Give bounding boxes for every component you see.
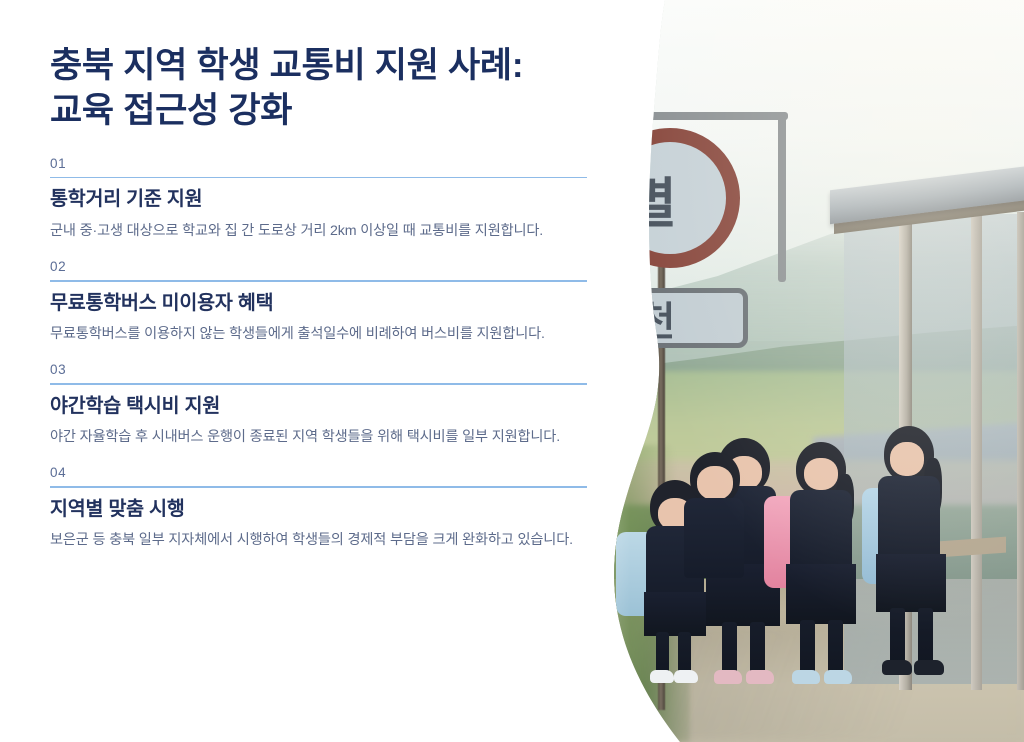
item-heading: 지역별 맞춤 시행 <box>50 497 588 521</box>
shoe-left <box>714 670 742 684</box>
face <box>890 442 924 476</box>
item-body: 보은군 등 충북 일부 지자체에서 시행하여 학생들의 경제적 부담을 크게 완… <box>50 529 593 551</box>
leg-left <box>656 632 669 674</box>
item-divider <box>50 280 587 282</box>
item-number: 02 <box>50 259 588 275</box>
page-title: 충북 지역 학생 교통비 지원 사례: 교육 접근성 강화 <box>50 44 588 134</box>
item-divider <box>50 383 587 385</box>
item-heading: 야간학습 택시비 지원 <box>50 394 588 418</box>
shoe-left <box>882 660 912 675</box>
photo-panel: 별 천 <box>560 0 1024 742</box>
item-number: 04 <box>50 465 588 481</box>
slide-root: 별 천 <box>0 0 1024 742</box>
face <box>804 458 838 490</box>
circular-road-sign: 별 <box>600 128 740 268</box>
leg-left <box>800 620 815 674</box>
student-3 <box>670 452 758 592</box>
shoe-left <box>650 670 674 683</box>
item-body: 무료통학버스를 이용하지 않는 학생들에게 출석일수에 비례하여 버스비를 지원… <box>50 323 593 345</box>
list-item: 04 지역별 맞춤 시행 보은군 등 충북 일부 지자체에서 시행하여 학생들의… <box>50 465 588 551</box>
item-heading: 무료통학버스 미이용자 혜택 <box>50 291 588 315</box>
uniform-top <box>684 498 744 578</box>
uniform-top <box>878 476 940 562</box>
item-number: 01 <box>50 156 588 172</box>
photo-curved-mask: 별 천 <box>560 0 1024 742</box>
leg-right <box>750 622 765 674</box>
shoe-right <box>824 670 852 684</box>
item-number: 03 <box>50 362 588 378</box>
face <box>697 466 733 500</box>
item-divider <box>50 177 587 179</box>
leg-left <box>890 608 905 664</box>
sign-frame-side <box>778 112 786 282</box>
circular-road-sign-label: 별 <box>627 159 677 238</box>
list-item: 03 야간학습 택시비 지원 야간 자율학습 후 시내버스 운행이 종료된 지역… <box>50 362 588 448</box>
rectangular-road-sign-label: 천 <box>639 289 676 347</box>
student-5 <box>850 426 956 684</box>
leg-right <box>678 632 691 674</box>
leg-right <box>918 608 933 664</box>
leg-right <box>828 620 843 674</box>
content-column: 충북 지역 학생 교통비 지원 사례: 교육 접근성 강화 01 통학거리 기준… <box>0 0 620 742</box>
shelter-post-right <box>1017 212 1024 690</box>
list-item: 01 통학거리 기준 지원 군내 중·고생 대상으로 학교와 집 간 도로상 거… <box>50 156 588 242</box>
skirt <box>786 564 856 624</box>
bus-stop-photo: 별 천 <box>560 0 1024 742</box>
leg-left <box>722 622 737 674</box>
item-divider <box>50 486 587 488</box>
shoe-left <box>792 670 820 684</box>
shoe-right <box>914 660 944 675</box>
item-body: 군내 중·고생 대상으로 학교와 집 간 도로상 거리 2km 이상일 때 교통… <box>50 220 593 242</box>
sign-frame-top <box>638 112 788 120</box>
shelter-post-middle <box>971 212 982 690</box>
item-heading: 통학거리 기준 지원 <box>50 187 588 211</box>
support-case-list: 01 통학거리 기준 지원 군내 중·고생 대상으로 학교와 집 간 도로상 거… <box>50 156 588 552</box>
rectangular-road-sign: 천 <box>600 288 748 348</box>
list-item: 02 무료통학버스 미이용자 혜택 무료통학버스를 이용하지 않는 학생들에게 … <box>50 259 588 345</box>
item-body: 야간 자율학습 후 시내버스 운행이 종료된 지역 학생들을 위해 택시비를 일… <box>50 426 593 448</box>
uniform-top <box>790 490 852 572</box>
skirt <box>876 554 946 612</box>
